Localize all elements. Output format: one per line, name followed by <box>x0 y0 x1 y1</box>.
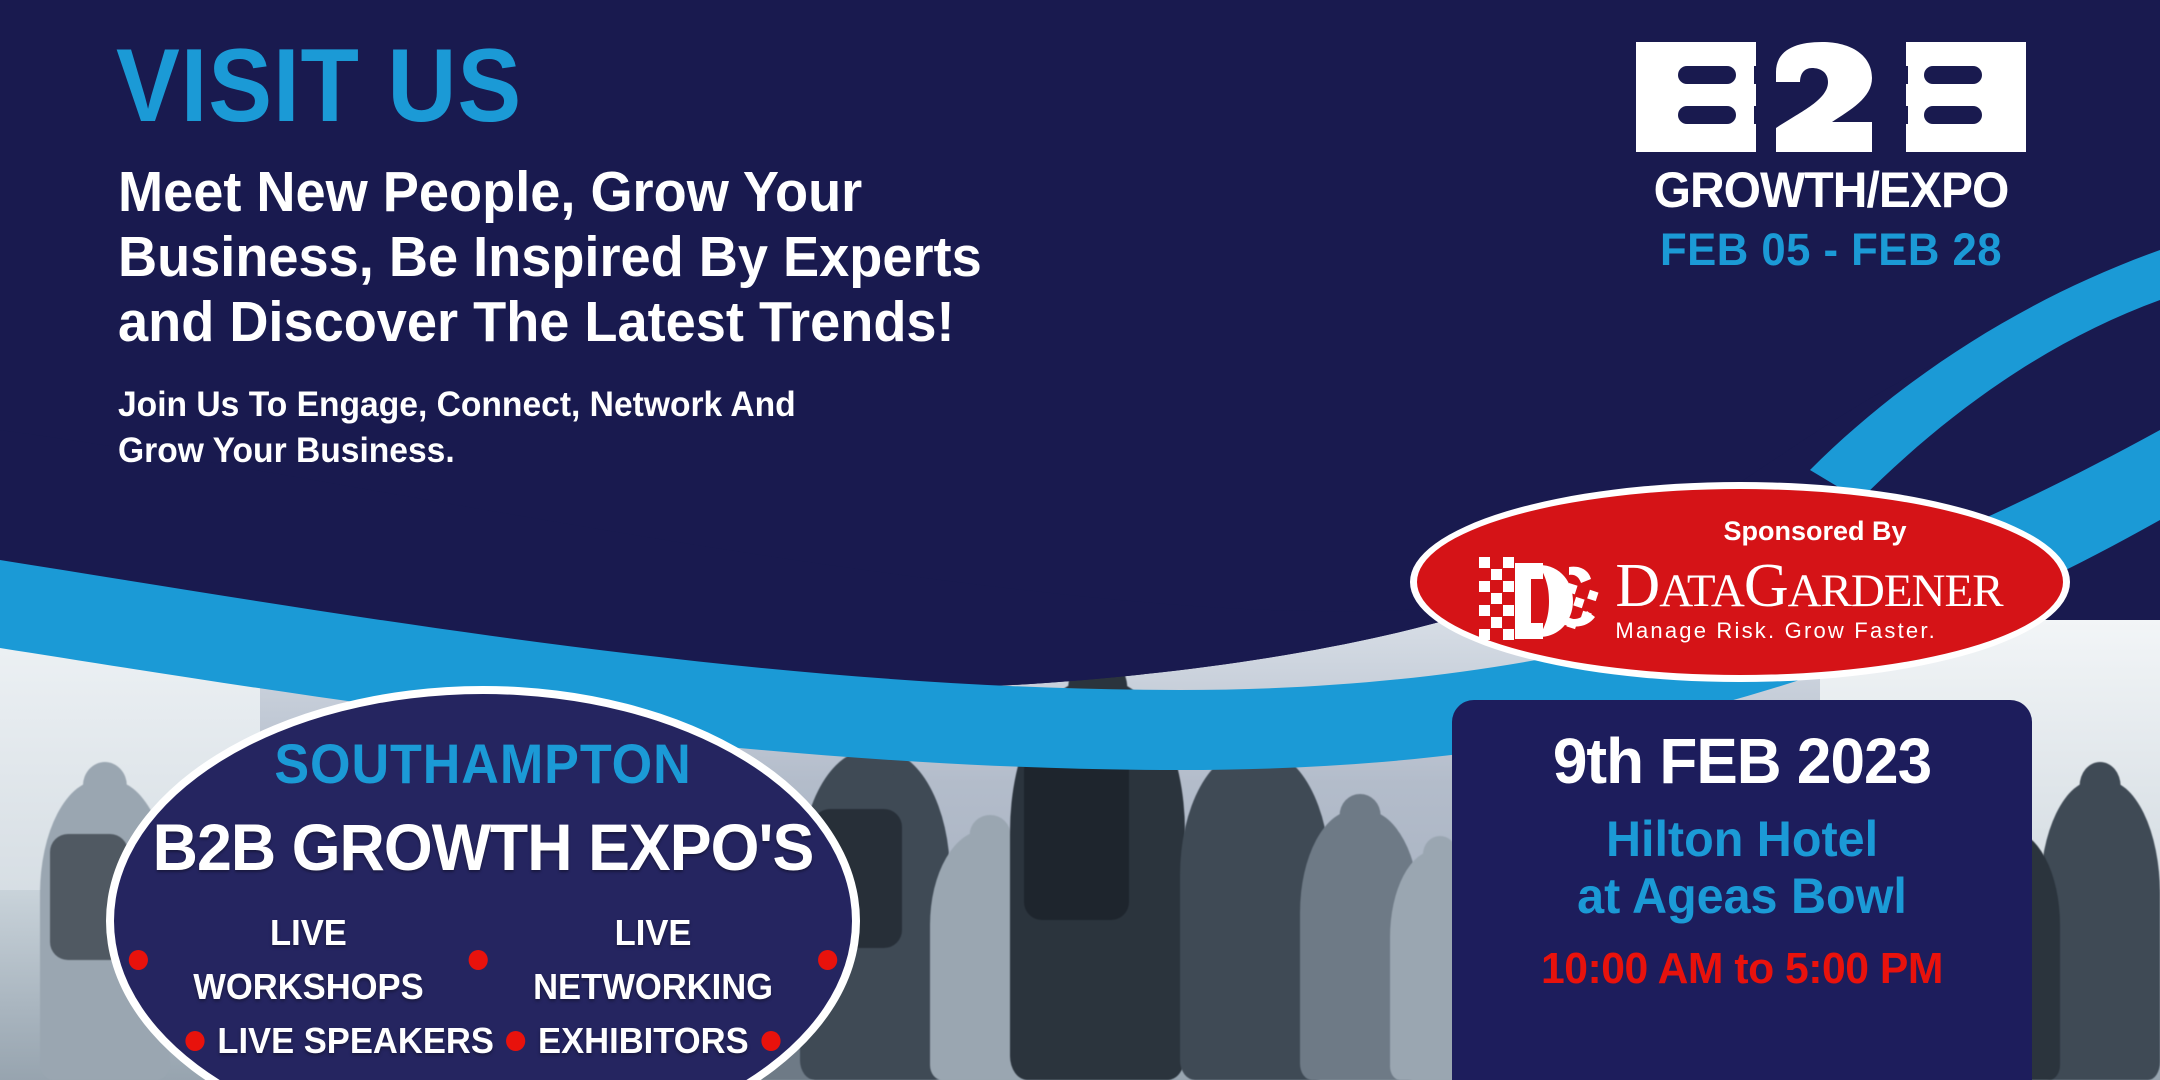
eyebrow-visit-us: VISIT US <box>116 34 522 138</box>
feature-exhibitors: EXHIBITORS <box>538 1014 749 1068</box>
b2b-growth-expo-logo: GROWTH/EXPO FEB 05 - FEB 28 <box>1636 42 2026 272</box>
event-date: 9th FEB 2023 <box>1461 728 2024 795</box>
crowd-figure <box>1010 680 1185 1080</box>
expo-oval-badge: SOUTHAMPTON B2B GROWTH EXPO'S LIVE WORKS… <box>106 686 860 1080</box>
tagline: Join Us To Engage, Connect, Network And … <box>118 382 982 473</box>
promo-banner: VISIT US Meet New People, Grow Your Busi… <box>0 0 2160 1080</box>
sponsor-badge: Sponsored By <box>1410 482 2070 682</box>
tagline-line-2: Grow Your Business. <box>118 428 982 474</box>
datagardener-tagline: Manage Risk. Grow Faster. <box>1615 619 2002 643</box>
event-time: 10:00 AM to 5:00 PM <box>1461 947 2024 991</box>
bullet-dot-icon <box>506 1031 525 1051</box>
bullet-dot-icon <box>469 950 488 970</box>
datagardener-wordmark: DATAGARDENER <box>1615 558 2002 615</box>
datagardener-mark-icon <box>1477 549 1605 653</box>
b2b-expo-date-range: FEB 05 - FEB 28 <box>1642 227 2020 272</box>
headline-line-2: Business, Be Inspired By Experts <box>118 225 1030 290</box>
expo-features-row-1: LIVE WORKSHOPS LIVE NETWORKING <box>129 906 837 1014</box>
datagardener-logo: DATAGARDENER Manage Risk. Grow Faster. <box>1477 549 2002 653</box>
b2b-logo-mark-icon <box>1636 42 2026 152</box>
event-venue: Hilton Hotel at Ageas Bowl <box>1461 811 2024 925</box>
feature-live-networking: LIVE NETWORKING <box>501 906 806 1014</box>
expo-features-row-2: LIVE SPEAKERS EXHIBITORS <box>129 1014 837 1068</box>
venue-line-1: Hilton Hotel <box>1461 811 2024 868</box>
b2b-wordmark: GROWTH/EXPO <box>1644 165 2018 215</box>
bullet-dot-icon <box>129 950 148 970</box>
bullet-dot-icon <box>818 950 837 970</box>
headline-line-1: Meet New People, Grow Your <box>118 160 1030 225</box>
feature-live-workshops: LIVE WORKSHOPS <box>160 906 456 1014</box>
tagline-line-1: Join Us To Engage, Connect, Network And <box>118 382 982 428</box>
sponsored-by-label: Sponsored By <box>1723 518 1906 545</box>
headline: Meet New People, Grow Your Business, Be … <box>118 160 1030 355</box>
feature-live-speakers: LIVE SPEAKERS <box>217 1014 494 1068</box>
bullet-dot-icon <box>761 1031 780 1051</box>
bullet-dot-icon <box>186 1031 205 1051</box>
expo-city: SOUTHAMPTON <box>140 736 826 792</box>
expo-features: LIVE WORKSHOPS LIVE NETWORKING LIVE SPEA… <box>114 906 852 1068</box>
expo-title: B2B GROWTH EXPO'S <box>132 814 833 880</box>
headline-line-3: and Discover The Latest Trends! <box>118 290 1030 355</box>
venue-line-2: at Ageas Bowl <box>1461 868 2024 925</box>
event-details-panel: 9th FEB 2023 Hilton Hotel at Ageas Bowl … <box>1452 700 2032 1080</box>
